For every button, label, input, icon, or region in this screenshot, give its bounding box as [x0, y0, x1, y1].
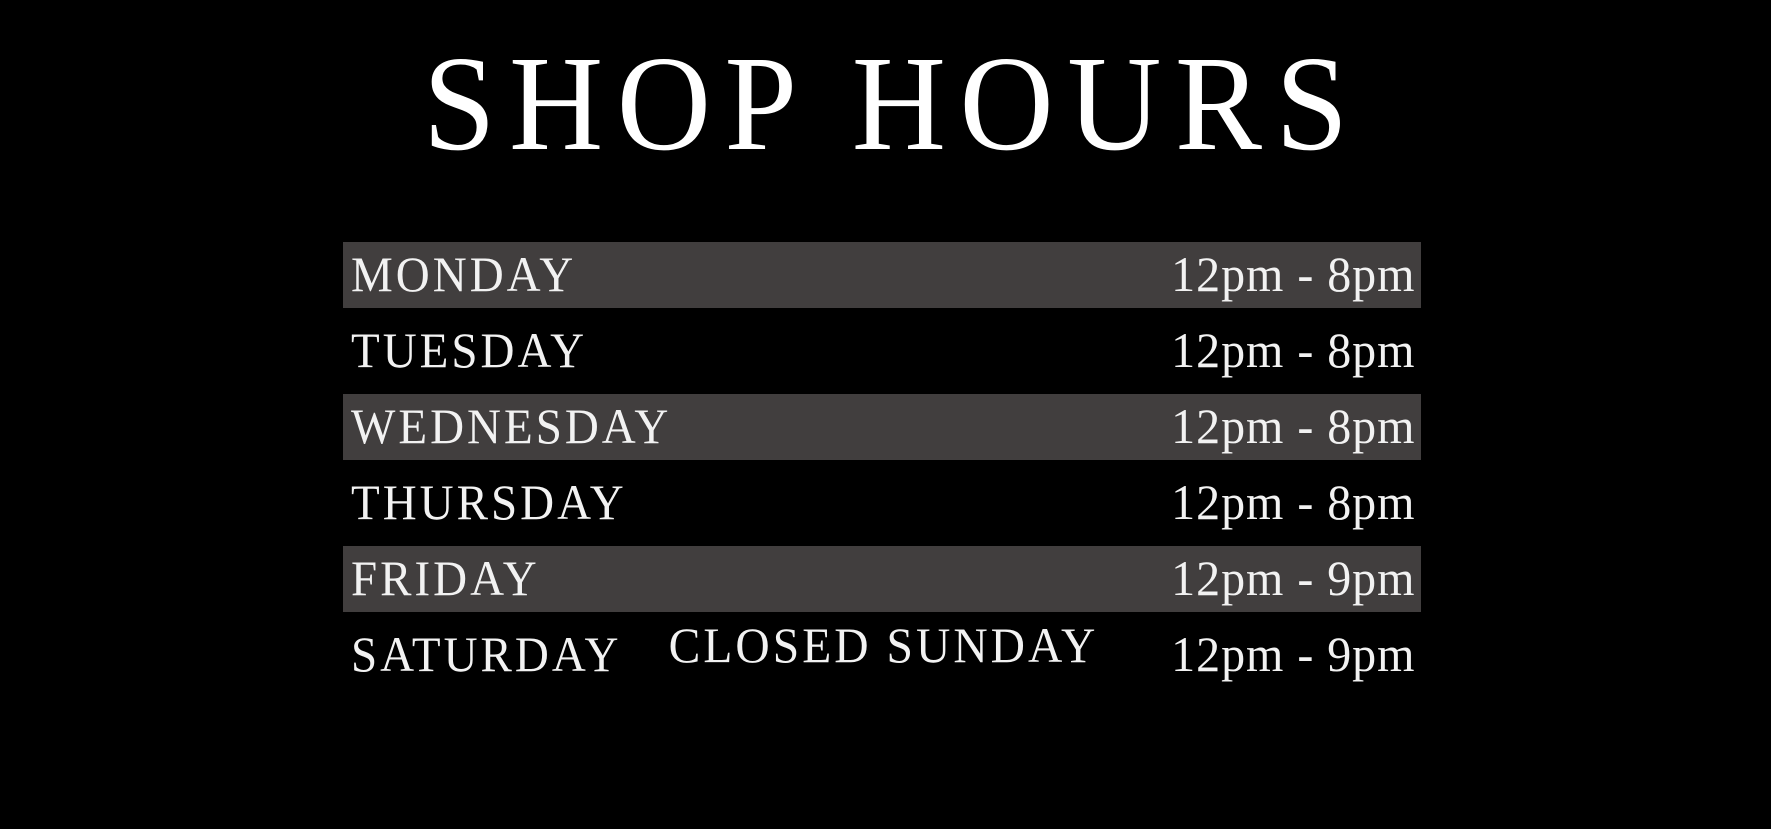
time-label: 12pm - 8pm	[1171, 325, 1415, 375]
table-row: WEDNESDAY 12pm - 8pm	[343, 394, 1421, 460]
day-label: MONDAY	[351, 249, 576, 299]
closed-sunday-note: CLOSED SUNDAY	[370, 620, 1394, 670]
shop-hours-sign: SHOP HOURS MONDAY 12pm - 8pm TUESDAY 12p…	[0, 0, 1771, 829]
table-row: FRIDAY 12pm - 9pm	[343, 546, 1421, 612]
day-label: FRIDAY	[351, 553, 540, 603]
time-label: 12pm - 9pm	[1171, 553, 1415, 603]
table-row: MONDAY 12pm - 8pm	[343, 242, 1421, 308]
table-row: THURSDAY 12pm - 8pm	[343, 470, 1421, 536]
time-label: 12pm - 8pm	[1171, 249, 1415, 299]
day-label: THURSDAY	[351, 477, 627, 527]
day-label: WEDNESDAY	[351, 401, 671, 451]
day-label: TUESDAY	[351, 325, 587, 375]
time-label: 12pm - 8pm	[1171, 401, 1415, 451]
time-label: 12pm - 8pm	[1171, 477, 1415, 527]
table-row: TUESDAY 12pm - 8pm	[343, 318, 1421, 384]
page-title: SHOP HOURS	[35, 36, 1735, 172]
